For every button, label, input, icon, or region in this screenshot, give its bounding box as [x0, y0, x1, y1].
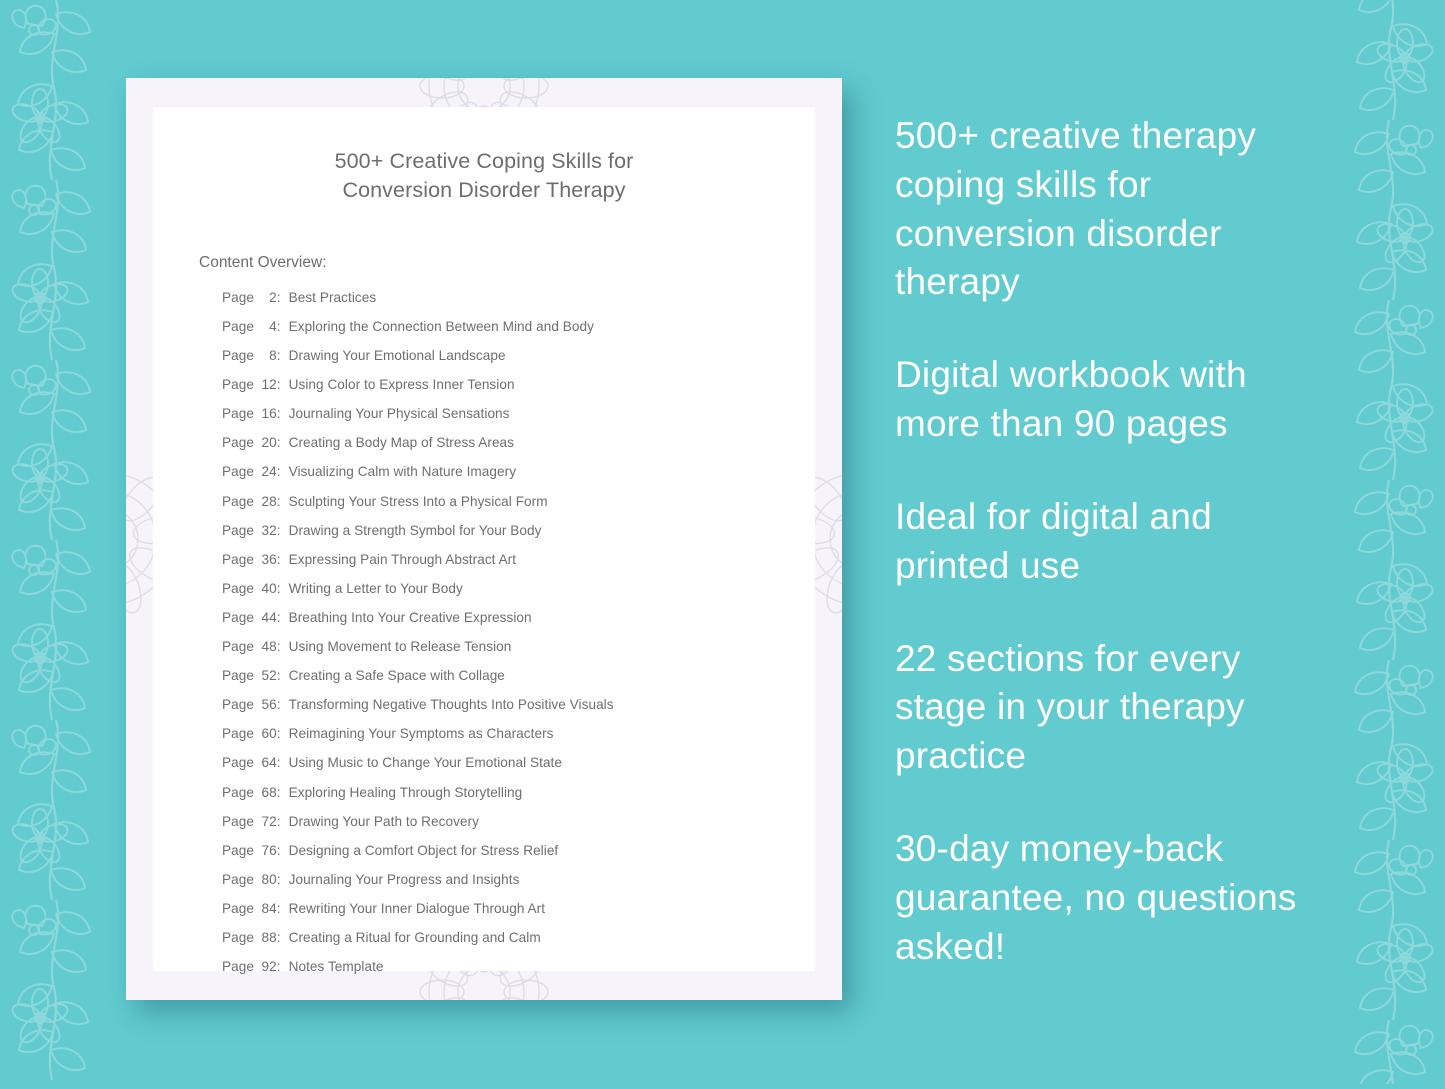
toc-entry-separator: : [277, 930, 281, 945]
floral-vine-border-right [1311, 0, 1445, 1084]
toc-entry-separator: : [277, 319, 281, 334]
page-title-line-2: Conversion Disorder Therapy [342, 178, 625, 202]
toc-entry: Page 48:Using Movement to Release Tensio… [222, 639, 815, 668]
page-title-line-1: 500+ Creative Coping Skills for [335, 149, 634, 173]
toc-entry-page-word: Page [222, 581, 258, 596]
toc-entry-separator: : [277, 523, 281, 538]
toc-entry-separator: : [277, 814, 281, 829]
toc-entry: Page 12:Using Color to Express Inner Ten… [222, 377, 815, 406]
toc-entry-page-number: 68 [258, 785, 277, 800]
toc-entry-title: Journaling Your Physical Sensations [289, 406, 510, 421]
toc-entry-title: Drawing Your Path to Recovery [289, 814, 479, 829]
toc-entry-page-number: 64 [258, 755, 277, 770]
toc-entry-title: Exploring Healing Through Storytelling [289, 785, 523, 800]
toc-entry-separator: : [277, 406, 281, 421]
toc-entry-title: Rewriting Your Inner Dialogue Through Ar… [289, 901, 545, 916]
toc-entry-title: Drawing a Strength Symbol for Your Body [289, 523, 542, 538]
marketing-point: 22 sections for every stage in your ther… [895, 635, 1325, 781]
marketing-point: 500+ creative therapy coping skills for … [895, 112, 1325, 307]
toc-entry-page-word: Page [222, 610, 258, 625]
toc-entry-page-word: Page [222, 901, 258, 916]
toc-entry-page-number: 44 [258, 610, 277, 625]
toc-entry-page-number: 24 [258, 464, 277, 479]
toc-entry-separator: : [277, 785, 281, 800]
toc-entry-page-word: Page [222, 930, 258, 945]
toc-entry: Page 92:Notes Template [222, 959, 815, 988]
toc-entry-page-number: 40 [258, 581, 277, 596]
toc-entry-page-word: Page [222, 523, 258, 538]
toc-entry-separator: : [277, 959, 281, 974]
marketing-point: 30-day money-back guarantee, no question… [895, 825, 1325, 971]
toc-entry: Page 88:Creating a Ritual for Grounding … [222, 930, 815, 959]
toc-entry-page-word: Page [222, 348, 258, 363]
toc-entry-page-number: 32 [258, 523, 277, 538]
toc-entry-separator: : [277, 872, 281, 887]
toc-entry: Page 32:Drawing a Strength Symbol for Yo… [222, 523, 815, 552]
toc-entry-page-number: 2 [258, 290, 277, 305]
toc-entry: Page 72:Drawing Your Path to Recovery [222, 814, 815, 843]
toc-entry: Page 64:Using Music to Change Your Emoti… [222, 755, 815, 784]
toc-entry: Page 8:Drawing Your Emotional Landscape [222, 348, 815, 377]
toc-entry: Page 60:Reimagining Your Symptoms as Cha… [222, 726, 815, 755]
toc-entry-page-number: 36 [258, 552, 277, 567]
toc-entry-page-word: Page [222, 668, 258, 683]
toc-entry-page-word: Page [222, 406, 258, 421]
toc-entry-separator: : [277, 901, 281, 916]
toc-entry-page-word: Page [222, 290, 258, 305]
toc-entry-page-number: 88 [258, 930, 277, 945]
toc-entry: Page 44:Breathing Into Your Creative Exp… [222, 610, 815, 639]
toc-entry: Page 68:Exploring Healing Through Storyt… [222, 785, 815, 814]
toc-entry-separator: : [277, 726, 281, 741]
toc-entry-page-word: Page [222, 552, 258, 567]
toc-entry-title: Exploring the Connection Between Mind an… [289, 319, 594, 334]
toc-entry-separator: : [277, 435, 281, 450]
toc-entry-title: Visualizing Calm with Nature Imagery [289, 464, 516, 479]
toc-entry-page-number: 92 [258, 959, 277, 974]
toc-entry-page-number: 8 [258, 348, 277, 363]
toc-entry-page-word: Page [222, 319, 258, 334]
toc-entry-separator: : [277, 755, 281, 770]
toc-entry-page-word: Page [222, 872, 258, 887]
floral-vine-border-left [0, 0, 134, 1084]
toc-entry-page-number: 80 [258, 872, 277, 887]
workbook-page: 500+ Creative Coping Skills for Conversi… [153, 107, 815, 971]
toc-entry-page-word: Page [222, 843, 258, 858]
toc-entry-page-number: 84 [258, 901, 277, 916]
toc-entry-title: Creating a Safe Space with Collage [289, 668, 505, 683]
toc-entry-separator: : [277, 843, 281, 858]
toc-entry: Page 4:Exploring the Connection Between … [222, 319, 815, 348]
toc-entry-page-word: Page [222, 697, 258, 712]
toc-entry-title: Using Color to Express Inner Tension [289, 377, 515, 392]
toc-entry-page-word: Page [222, 377, 258, 392]
toc-entry-page-number: 20 [258, 435, 277, 450]
toc-entry-page-number: 4 [258, 319, 277, 334]
toc-entry-title: Creating a Body Map of Stress Areas [289, 435, 514, 450]
toc-entry: Page 84:Rewriting Your Inner Dialogue Th… [222, 901, 815, 930]
toc-entry-title: Transforming Negative Thoughts Into Posi… [289, 697, 614, 712]
toc-entry-separator: : [277, 552, 281, 567]
toc-entry: Page 76:Designing a Comfort Object for S… [222, 843, 815, 872]
toc-entry: Page 40:Writing a Letter to Your Body [222, 581, 815, 610]
toc-entry-separator: : [277, 290, 281, 305]
table-of-contents: Page 2:Best PracticesPage 4:Exploring th… [222, 290, 815, 988]
toc-entry-title: Notes Template [289, 959, 384, 974]
toc-entry-page-number: 28 [258, 494, 277, 509]
toc-entry-separator: : [277, 610, 281, 625]
toc-entry-page-number: 60 [258, 726, 277, 741]
toc-entry: Page 28:Sculpting Your Stress Into a Phy… [222, 494, 815, 523]
toc-entry-separator: : [277, 639, 281, 654]
toc-entry-title: Expressing Pain Through Abstract Art [289, 552, 516, 567]
toc-entry-page-number: 12 [258, 377, 277, 392]
toc-entry-page-word: Page [222, 726, 258, 741]
toc-entry-page-word: Page [222, 435, 258, 450]
toc-entry-title: Creating a Ritual for Grounding and Calm [289, 930, 541, 945]
toc-entry-page-word: Page [222, 494, 258, 509]
toc-entry: Page 2:Best Practices [222, 290, 815, 319]
toc-entry-page-word: Page [222, 755, 258, 770]
toc-entry: Page 36:Expressing Pain Through Abstract… [222, 552, 815, 581]
toc-entry-page-word: Page [222, 639, 258, 654]
toc-entry-separator: : [277, 494, 281, 509]
toc-entry: Page 52:Creating a Safe Space with Colla… [222, 668, 815, 697]
toc-entry-page-number: 48 [258, 639, 277, 654]
toc-entry-page-word: Page [222, 785, 258, 800]
toc-entry-title: Breathing Into Your Creative Expression [289, 610, 532, 625]
toc-entry-title: Using Movement to Release Tension [289, 639, 512, 654]
toc-entry-separator: : [277, 464, 281, 479]
toc-entry-page-number: 16 [258, 406, 277, 421]
toc-entry-separator: : [277, 581, 281, 596]
marketing-point: Digital workbook with more than 90 pages [895, 351, 1325, 449]
toc-entry-title: Drawing Your Emotional Landscape [289, 348, 506, 363]
toc-entry-page-word: Page [222, 959, 258, 974]
toc-entry: Page 56:Transforming Negative Thoughts I… [222, 697, 815, 726]
toc-entry-separator: : [277, 697, 281, 712]
toc-entry-page-word: Page [222, 464, 258, 479]
toc-entry: Page 20:Creating a Body Map of Stress Ar… [222, 435, 815, 464]
page-title: 500+ Creative Coping Skills for Conversi… [153, 147, 815, 206]
toc-entry-separator: : [277, 348, 281, 363]
marketing-point: Ideal for digital and printed use [895, 493, 1325, 591]
toc-entry-page-number: 56 [258, 697, 277, 712]
toc-entry-title: Best Practices [289, 290, 377, 305]
toc-entry-page-number: 76 [258, 843, 277, 858]
toc-entry-page-word: Page [222, 814, 258, 829]
toc-entry-separator: : [277, 377, 281, 392]
content-overview-label: Content Overview: [199, 254, 815, 272]
toc-entry-title: Designing a Comfort Object for Stress Re… [289, 843, 559, 858]
toc-entry-page-number: 72 [258, 814, 277, 829]
product-preview-card: 500+ Creative Coping Skills for Conversi… [126, 78, 842, 1000]
toc-entry: Page 24:Visualizing Calm with Nature Ima… [222, 464, 815, 493]
toc-entry-title: Sculpting Your Stress Into a Physical Fo… [289, 494, 548, 509]
marketing-points-list: 500+ creative therapy coping skills for … [895, 112, 1325, 972]
toc-entry-title: Reimagining Your Symptoms as Characters [289, 726, 554, 741]
toc-entry: Page 80:Journaling Your Progress and Ins… [222, 872, 815, 901]
toc-entry-title: Journaling Your Progress and Insights [289, 872, 520, 887]
toc-entry-page-number: 52 [258, 668, 277, 683]
toc-entry-separator: : [277, 668, 281, 683]
toc-entry-title: Writing a Letter to Your Body [289, 581, 463, 596]
toc-entry-title: Using Music to Change Your Emotional Sta… [289, 755, 562, 770]
toc-entry: Page 16:Journaling Your Physical Sensati… [222, 406, 815, 435]
